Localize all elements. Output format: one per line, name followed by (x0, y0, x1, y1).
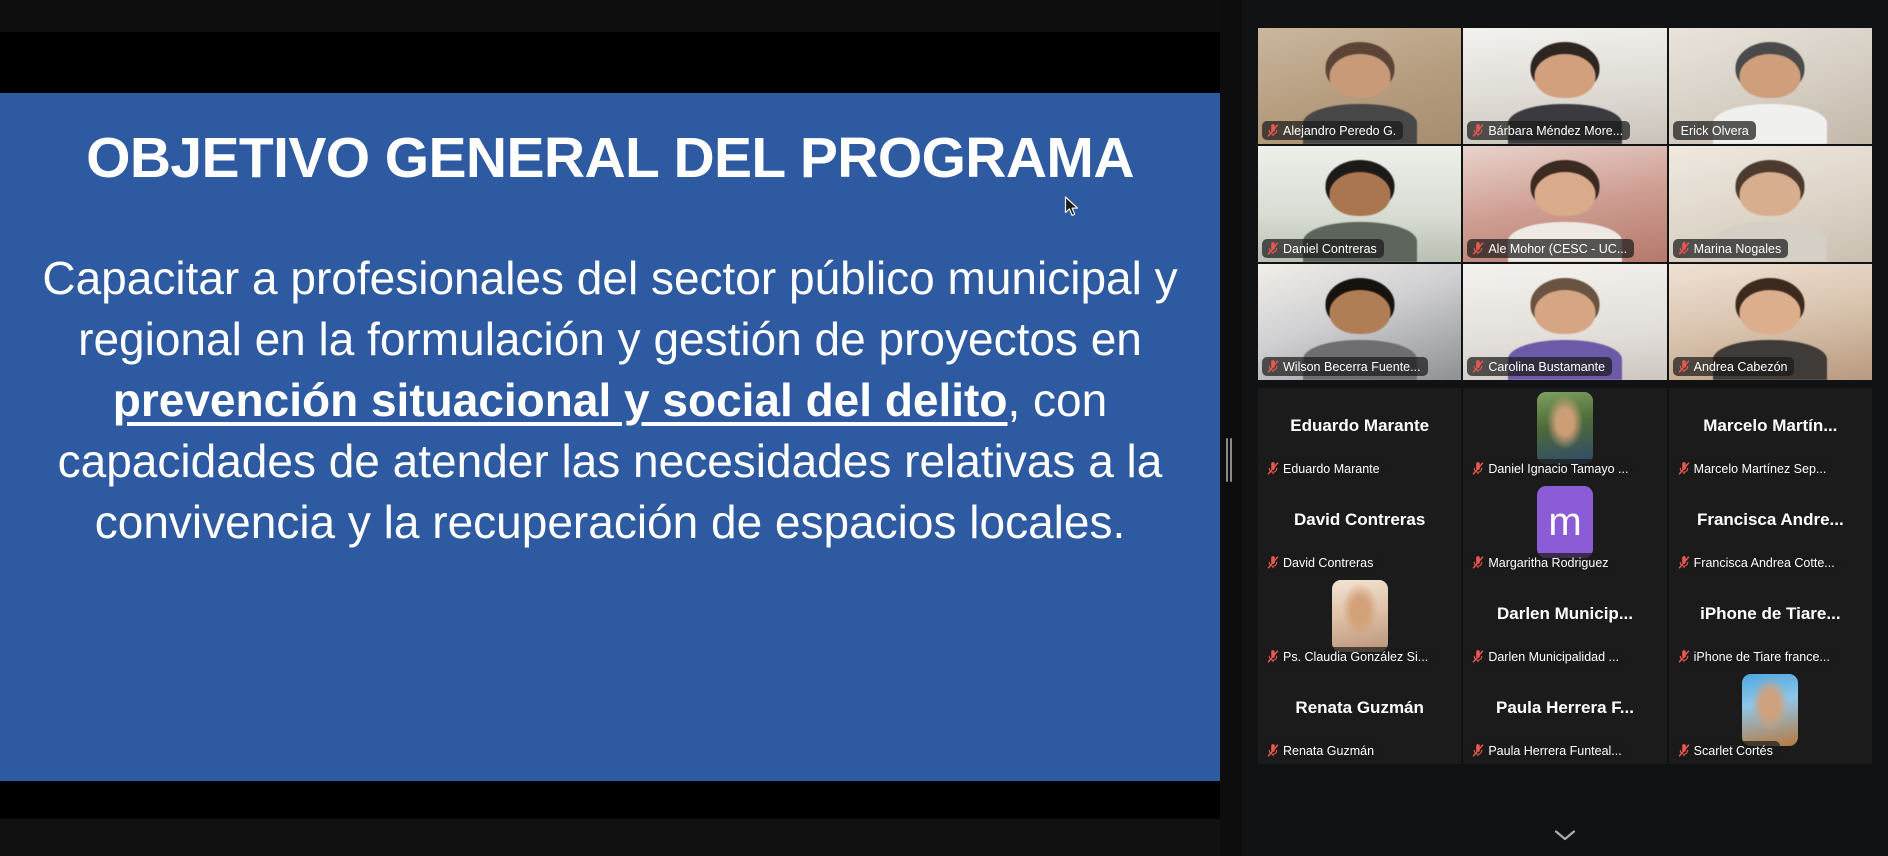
participant-name-badge: Andrea Cabezón (1673, 357, 1795, 376)
avatar-letter: m (1537, 486, 1593, 558)
participant-name-text: Ps. Claudia González Si... (1283, 650, 1428, 664)
participant-name-badge: Eduardo Marante (1262, 459, 1387, 478)
participant-cell[interactable]: Ps. Claudia González Si... (1258, 576, 1461, 670)
participant-name-badge: Marina Nogales (1673, 239, 1789, 258)
participant-name-text: Erick Olvera (1681, 124, 1749, 138)
video-tile[interactable]: Bárbara Méndez More... (1463, 28, 1666, 144)
participant-name-badge: David Contreras (1262, 553, 1380, 572)
participant-name-badge: Marcelo Martínez Sep... (1673, 459, 1834, 478)
participant-cell[interactable]: Eduardo MaranteEduardo Marante (1258, 388, 1461, 482)
participant-name-text: Wilson Becerra Fuente... (1283, 360, 1421, 374)
participant-cell[interactable]: mMargaritha Rodriguez (1463, 482, 1666, 576)
participant-name-text: Margaritha Rodriguez (1488, 556, 1608, 570)
share-bottom-letterbox (0, 819, 1220, 856)
mic-off-icon (1472, 650, 1484, 663)
video-tile[interactable]: Ale Mohor (CESC - UC... (1463, 146, 1666, 262)
mic-off-icon (1267, 242, 1279, 255)
mic-off-icon (1267, 556, 1279, 569)
participant-cell[interactable]: Paula Herrera F...Paula Herrera Funteal.… (1463, 670, 1666, 764)
mic-off-icon (1678, 242, 1690, 255)
participant-name-badge: Scarlet Cortés (1673, 741, 1780, 760)
video-tile[interactable]: Carolina Bustamante (1463, 264, 1666, 380)
presentation-slide[interactable]: OBJETIVO GENERAL DEL PROGRAMA Capacitar … (0, 93, 1220, 781)
mic-off-icon (1267, 124, 1279, 137)
zoom-meeting-window: OBJETIVO GENERAL DEL PROGRAMA Capacitar … (0, 0, 1888, 856)
participant-display-name: David Contreras (1258, 510, 1461, 530)
video-tile[interactable]: Marina Nogales (1669, 146, 1872, 262)
participant-row: Renata GuzmánRenata GuzmánPaula Herrera … (1258, 670, 1872, 764)
participant-name-text: David Contreras (1283, 556, 1373, 570)
participant-name-badge: iPhone de Tiare france... (1673, 647, 1837, 666)
participant-name-badge: Darlen Municipalidad ... (1467, 647, 1626, 666)
participant-name-text: Daniel Contreras (1283, 242, 1377, 256)
participant-face (1740, 172, 1801, 216)
video-tile-grid: Alejandro Peredo G.Bárbara Méndez More..… (1258, 28, 1872, 380)
participant-name-badge: Daniel Ignacio Tamayo ... (1467, 459, 1635, 478)
participant-name-text: Francisca Andrea Cotte... (1694, 556, 1835, 570)
share-top-letterbox (0, 0, 1220, 32)
participant-name-badge: Carolina Bustamante (1467, 357, 1612, 376)
participant-photo (1742, 674, 1798, 746)
slide-body-part-1: Capacitar a profesionales del sector púb… (42, 252, 1177, 365)
participant-name-badge: Ale Mohor (CESC - UC... (1467, 239, 1634, 258)
mic-off-icon (1678, 556, 1690, 569)
participant-name-text: Andrea Cabezón (1694, 360, 1788, 374)
splitter-grip-handle[interactable] (1226, 438, 1236, 482)
participant-name-text: Marina Nogales (1694, 242, 1782, 256)
slide-body-emphasis: prevención situacional y social del deli… (113, 374, 1008, 426)
participant-name-badge: Margaritha Rodriguez (1467, 553, 1615, 572)
mic-off-icon (1472, 744, 1484, 757)
participant-face (1534, 54, 1595, 98)
participant-row: Ps. Claudia González Si...Darlen Municip… (1258, 576, 1872, 670)
participant-face (1329, 54, 1390, 98)
participant-cell[interactable]: iPhone de Tiare...iPhone de Tiare france… (1669, 576, 1872, 670)
participant-cell[interactable]: Daniel Ignacio Tamayo ... (1463, 388, 1666, 482)
participant-cell[interactable]: David ContrerasDavid Contreras (1258, 482, 1461, 576)
mic-off-icon (1267, 360, 1279, 373)
participant-video-panel[interactable]: Alejandro Peredo G.Bárbara Méndez More..… (1242, 0, 1888, 856)
participant-name-text: Paula Herrera Funteal... (1488, 744, 1621, 758)
video-tile[interactable]: Alejandro Peredo G. (1258, 28, 1461, 144)
mic-off-icon (1472, 242, 1484, 255)
participant-face (1740, 54, 1801, 98)
participant-display-name: iPhone de Tiare... (1669, 604, 1872, 624)
participant-cell[interactable]: Renata GuzmánRenata Guzmán (1258, 670, 1461, 764)
participant-name-text: Marcelo Martínez Sep... (1694, 462, 1827, 476)
participant-avatar: m (1537, 486, 1593, 558)
participant-cell[interactable]: Marcelo Martín...Marcelo Martínez Sep... (1669, 388, 1872, 482)
participant-name-text: Alejandro Peredo G. (1283, 124, 1396, 138)
participant-name-rows: Eduardo MaranteEduardo MaranteDaniel Ign… (1258, 388, 1872, 764)
participant-face (1534, 172, 1595, 216)
participant-name-badge: Ps. Claudia González Si... (1262, 647, 1435, 666)
participant-name-badge: Daniel Contreras (1262, 239, 1384, 258)
video-tile[interactable]: Daniel Contreras (1258, 146, 1461, 262)
mic-off-icon (1472, 556, 1484, 569)
participant-display-name: Eduardo Marante (1258, 416, 1461, 436)
mic-off-icon (1267, 462, 1279, 475)
participant-row: David ContrerasDavid ContrerasmMargarith… (1258, 482, 1872, 576)
participant-display-name: Paula Herrera F... (1463, 698, 1666, 718)
mic-off-icon (1472, 360, 1484, 373)
video-tile[interactable]: Andrea Cabezón (1669, 264, 1872, 380)
panel-splitter[interactable] (1220, 0, 1242, 856)
chevron-down-icon[interactable] (1242, 814, 1888, 856)
participant-cell[interactable]: Scarlet Cortés (1669, 670, 1872, 764)
participant-name-badge: Renata Guzmán (1262, 741, 1381, 760)
participant-name-text: Bárbara Méndez More... (1488, 124, 1623, 138)
participant-name-text: Ale Mohor (CESC - UC... (1488, 242, 1627, 256)
participant-name-text: Eduardo Marante (1283, 462, 1380, 476)
participant-name-text: Renata Guzmán (1283, 744, 1374, 758)
mic-off-icon (1678, 462, 1690, 475)
participant-cell[interactable]: Darlen Municip...Darlen Municipalidad ..… (1463, 576, 1666, 670)
shared-screen-area[interactable]: OBJETIVO GENERAL DEL PROGRAMA Capacitar … (0, 0, 1220, 856)
participant-name-badge: Francisca Andrea Cotte... (1673, 553, 1842, 572)
participant-name-badge: Erick Olvera (1673, 121, 1756, 140)
participant-face (1740, 290, 1801, 334)
slide-body-text: Capacitar a profesionales del sector púb… (40, 248, 1180, 553)
participant-name-text: iPhone de Tiare france... (1694, 650, 1830, 664)
participant-name-badge: Wilson Becerra Fuente... (1262, 357, 1428, 376)
mic-off-icon (1472, 124, 1484, 137)
participant-display-name: Francisca Andre... (1669, 510, 1872, 530)
participant-row: Eduardo MaranteEduardo MaranteDaniel Ign… (1258, 388, 1872, 482)
participant-photo (1332, 580, 1388, 652)
mic-off-icon (1678, 744, 1690, 757)
participant-display-name: Marcelo Martín... (1669, 416, 1872, 436)
participant-face (1329, 290, 1390, 334)
mic-off-icon (1678, 650, 1690, 663)
video-tile[interactable]: Erick Olvera (1669, 28, 1872, 144)
participant-name-text: Darlen Municipalidad ... (1488, 650, 1619, 664)
participant-cell[interactable]: Francisca Andre...Francisca Andrea Cotte… (1669, 482, 1872, 576)
participant-name-text: Daniel Ignacio Tamayo ... (1488, 462, 1628, 476)
mic-off-icon (1267, 650, 1279, 663)
mic-off-icon (1472, 462, 1484, 475)
participant-photo (1537, 392, 1593, 464)
participant-name-text: Scarlet Cortés (1694, 744, 1773, 758)
participant-face (1534, 290, 1595, 334)
participant-name-text: Carolina Bustamante (1488, 360, 1605, 374)
participant-name-badge: Alejandro Peredo G. (1262, 121, 1403, 140)
share-black-band-bottom (0, 781, 1220, 819)
participant-face (1329, 172, 1390, 216)
participant-display-name: Renata Guzmán (1258, 698, 1461, 718)
mic-off-icon (1267, 744, 1279, 757)
mic-off-icon (1678, 360, 1690, 373)
slide-title: OBJETIVO GENERAL DEL PROGRAMA (0, 125, 1220, 191)
participant-display-name: Darlen Municip... (1463, 604, 1666, 624)
share-black-band-top (0, 32, 1220, 93)
participant-name-badge: Bárbara Méndez More... (1467, 121, 1630, 140)
video-tile[interactable]: Wilson Becerra Fuente... (1258, 264, 1461, 380)
participant-name-badge: Paula Herrera Funteal... (1467, 741, 1628, 760)
